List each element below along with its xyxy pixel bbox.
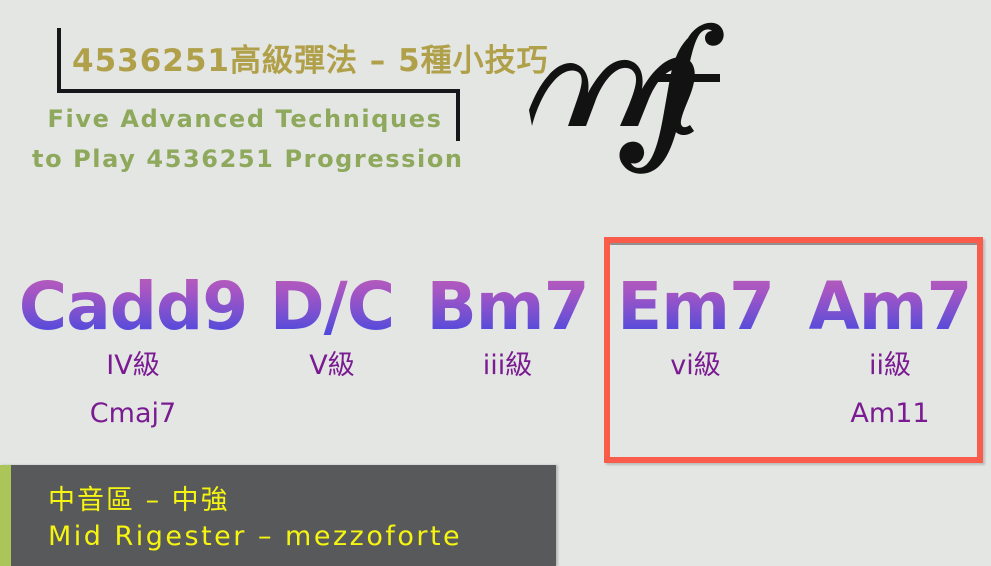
mezzoforte-icon <box>520 14 730 184</box>
register-dynamics-banner: 中音區 – 中強 Mid Rigester – mezzoforte <box>0 465 556 566</box>
chord-column-3[interactable]: Bm7 iii級 <box>420 270 595 394</box>
page-subtitle-english: Five Advanced Techniques to Play 4536251… <box>30 99 460 179</box>
page-subtitle-english-line1: Five Advanced Techniques <box>48 105 443 133</box>
chord-column-2[interactable]: D/C V級 <box>252 270 412 394</box>
banner-text-english: Mid Rigester – mezzoforte <box>48 521 462 552</box>
slide-canvas: 4536251高級彈法 – 5種小技巧 Five Advanced Techni… <box>0 0 991 566</box>
chord-name: Bm7 <box>420 270 595 344</box>
page-title-chinese: 4536251高級彈法 – 5種小技巧 <box>72 35 549 80</box>
banner-accent-bar <box>0 465 11 566</box>
chord-column-5[interactable]: Am7 ii級 Am11 <box>800 270 980 434</box>
chord-column-1[interactable]: Cadd9 IV級 Cmaj7 <box>18 270 248 434</box>
page-subtitle-english-line2: to Play 4536251 Progression <box>30 139 460 179</box>
chord-alternate: Am11 <box>800 394 980 434</box>
chord-name: D/C <box>252 270 412 344</box>
chord-progression-row: Cadd9 IV級 Cmaj7 D/C V級 Bm7 iii級 Em7 vi級 … <box>0 270 991 460</box>
banner-text-chinese: 中音區 – 中強 <box>48 478 230 517</box>
chord-degree: V級 <box>252 346 412 386</box>
chord-degree: vi級 <box>608 346 783 386</box>
chord-name: Am7 <box>800 270 980 344</box>
header-bracket-left-stroke <box>57 28 61 92</box>
chord-degree: IV級 <box>18 346 248 386</box>
chord-alternate: Cmaj7 <box>18 394 248 434</box>
chord-degree: ii級 <box>800 346 980 386</box>
chord-degree: iii級 <box>420 346 595 386</box>
header-bracket-horizontal-stroke <box>57 89 460 93</box>
chord-column-4[interactable]: Em7 vi級 <box>608 270 783 394</box>
chord-name: Cadd9 <box>18 270 248 344</box>
chord-name: Em7 <box>608 270 783 344</box>
